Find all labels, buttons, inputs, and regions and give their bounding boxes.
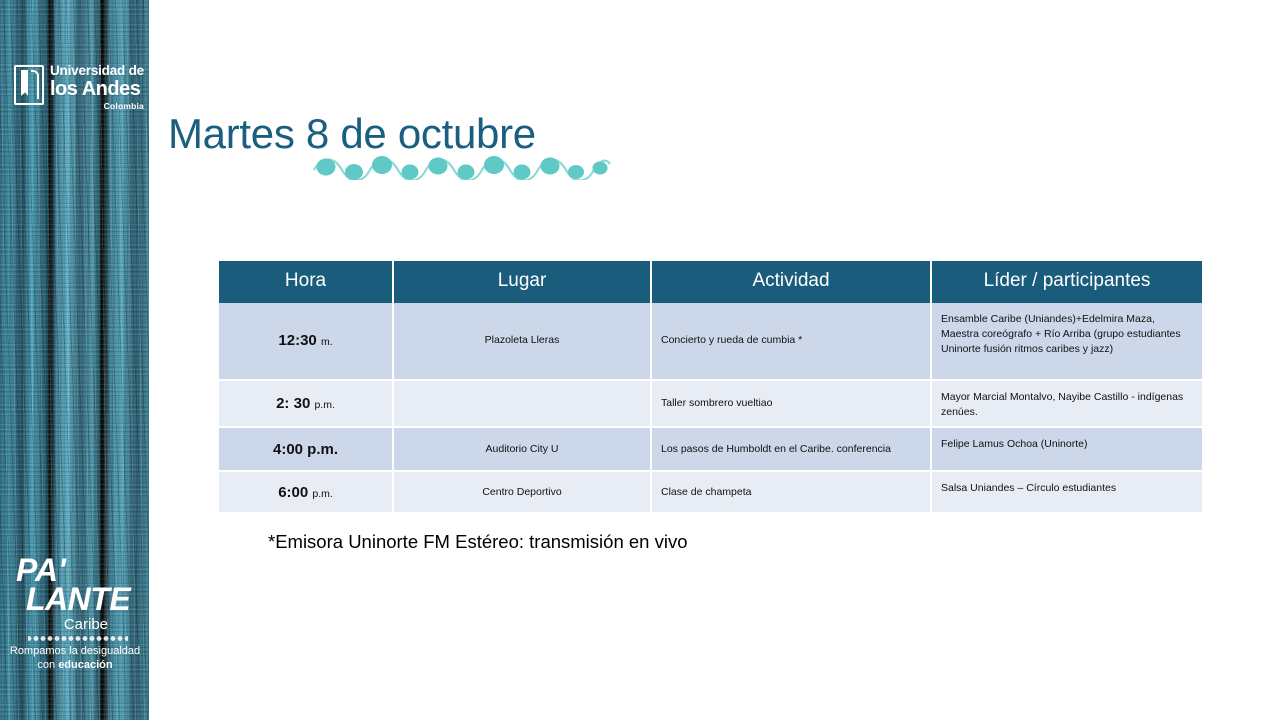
cell-hora-suffix: m. [321,336,333,348]
palante-tagline-2-bold: educación [58,659,112,671]
palante-line3: Caribe [8,616,108,633]
palante-caribe-logo: PA' LANTE Caribe Rompamos la desigualdad… [8,556,142,672]
column-header-lugar: Lugar [394,261,652,303]
cell-lugar: Centro Deportivo [394,472,652,514]
slide-canvas: Universidad de los Andes Colombia PA' LA… [0,0,1280,720]
cell-lugar: Plazoleta Lleras [394,303,652,381]
cell-actividad: Taller sombrero vueltiao [652,381,932,428]
column-header-actividad: Actividad [652,261,932,303]
cell-lider: Mayor Marcial Montalvo, Nayibe Castillo … [932,381,1202,428]
uniandes-logo-line3: Colombia [50,102,144,111]
uniandes-logo-line1: Universidad de [50,64,144,78]
cell-lider: Felipe Lamus Ochoa (Uninorte) [932,428,1202,472]
cell-hora-suffix: p.m. [312,488,332,500]
palante-tagline-1: Rompamos la desigualdad [8,645,142,659]
cell-hora: 2: 30 p.m. [219,381,394,428]
cell-lider: Ensamble Caribe (Uniandes)+Edelmira Maza… [932,303,1202,381]
cell-hora: 6:00 p.m. [219,472,394,514]
table-row: 12:30 m. Plazoleta Lleras Concierto y ru… [219,303,1202,381]
table-row: 4:00 p.m. Auditorio City U Los pasos de … [219,428,1202,472]
cell-lugar [394,381,652,428]
cell-actividad: Clase de champeta [652,472,932,514]
table-header-row: Hora Lugar Actividad Líder / participant… [219,261,1202,303]
table-row: 2: 30 p.m. Taller sombrero vueltiao Mayo… [219,381,1202,428]
cell-hora: 12:30 m. [219,303,394,381]
cell-hora-value: 4:00 p.m. [273,441,338,458]
palante-line2: LANTE [26,585,142,614]
column-header-lider: Líder / participantes [932,261,1202,303]
cell-actividad: Los pasos de Humboldt en el Caribe. conf… [652,428,932,472]
dot-wave-decoration [312,152,612,180]
palante-dot-divider [28,636,128,642]
uniandes-logo: Universidad de los Andes Colombia [14,64,146,116]
uniandes-logo-text: Universidad de los Andes Colombia [50,64,144,110]
table-row: 6:00 p.m. Centro Deportivo Clase de cham… [219,472,1202,514]
table-body: 12:30 m. Plazoleta Lleras Concierto y ru… [219,303,1202,514]
footnote-text: *Emisora Uninorte FM Estéreo: transmisió… [268,531,687,553]
table-header: Hora Lugar Actividad Líder / participant… [219,261,1202,303]
column-header-hora: Hora [219,261,394,303]
cell-hora-value: 2: 30 [276,395,310,412]
cell-hora-suffix: p.m. [314,399,334,411]
uniandes-logo-line2: los Andes [50,79,144,99]
cell-lugar: Auditorio City U [394,428,652,472]
shield-icon [14,65,44,105]
cell-actividad: Concierto y rueda de cumbia * [652,303,932,381]
page-title: Martes 8 de octubre [168,110,536,158]
schedule-table: Hora Lugar Actividad Líder / participant… [219,261,1202,514]
palante-tagline-2-normal: con [37,659,58,671]
cell-hora-value: 12:30 [278,332,316,349]
cell-hora: 4:00 p.m. [219,428,394,472]
cell-lider: Salsa Uniandes – Círculo estudiantes [932,472,1202,514]
cell-hora-value: 6:00 [278,484,308,501]
palante-tagline-2: con educación [8,659,142,673]
